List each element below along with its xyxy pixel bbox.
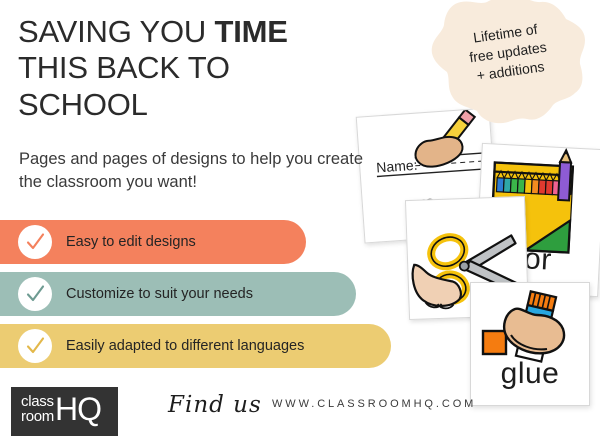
logo-line-room: room bbox=[21, 409, 54, 424]
card-word-glue: glue bbox=[471, 357, 589, 391]
svg-text:Name:: Name: bbox=[376, 157, 418, 176]
logo-wordmark: class room bbox=[21, 394, 54, 425]
feature-pill-0: Easy to edit designs bbox=[0, 220, 306, 264]
classroomhq-logo[interactable]: class room HQ bbox=[11, 387, 118, 436]
page-title: SAVING YOU TIME THIS BACK TO SCHOOL bbox=[18, 14, 378, 123]
poster-canvas: SAVING YOU TIME THIS BACK TO SCHOOL Page… bbox=[0, 0, 600, 436]
feature-label-1: Customize to suit your needs bbox=[66, 286, 253, 302]
headline-line1-bold: TIME bbox=[215, 14, 288, 49]
logo-line-class: class bbox=[21, 394, 54, 409]
feature-label-2: Easily adapted to different languages bbox=[66, 338, 304, 354]
feature-label-0: Easy to edit designs bbox=[66, 234, 196, 250]
subheadline: Pages and pages of designs to help you c… bbox=[19, 148, 364, 195]
logo-hq: HQ bbox=[55, 393, 101, 425]
feature-pill-2: Easily adapted to different languages bbox=[0, 324, 391, 368]
headline-line3: SCHOOL bbox=[18, 87, 148, 122]
check-circle-icon bbox=[18, 329, 52, 363]
feature-pill-1: Customize to suit your needs bbox=[0, 272, 356, 316]
website-url[interactable]: WWW.CLASSROOMHQ.COM bbox=[272, 398, 476, 410]
headline-line1-pre: SAVING YOU bbox=[18, 14, 215, 49]
lifetime-updates-badge: Lifetime of free updates + additions bbox=[425, 0, 591, 126]
glue-card: glue bbox=[470, 282, 590, 406]
check-circle-icon bbox=[18, 225, 52, 259]
find-us-script: Find us bbox=[168, 392, 262, 418]
check-circle-icon bbox=[18, 277, 52, 311]
headline-line2: THIS BACK TO bbox=[18, 50, 230, 85]
